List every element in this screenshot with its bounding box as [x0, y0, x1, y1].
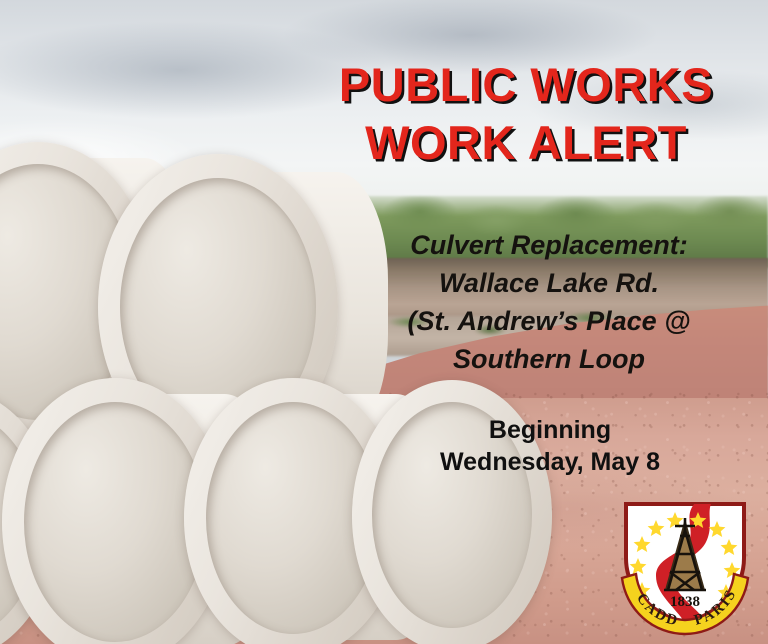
headline-line-2: WORK ALERT — [300, 114, 752, 172]
seal-year: 1838 — [670, 594, 700, 610]
headline-line-1: PUBLIC WORKS — [300, 56, 752, 114]
caddo-parish-seal: 1838 CADDO PARISH — [612, 496, 758, 636]
subhead-line-1: Culvert Replacement: — [356, 226, 742, 264]
pipe-bore — [24, 402, 206, 642]
date-line-1: Beginning — [380, 414, 720, 446]
public-works-alert-poster: PUBLIC WORKS WORK ALERT Culvert Replacem… — [0, 0, 768, 644]
subhead-line-2: Wallace Lake Rd. — [356, 264, 742, 302]
subhead-line-3: (St. Andrew’s Place @ — [356, 302, 742, 340]
date-line-2: Wednesday, May 8 — [380, 446, 720, 478]
project-description: Culvert Replacement: Wallace Lake Rd. (S… — [356, 226, 742, 378]
page-title: PUBLIC WORKS WORK ALERT — [300, 56, 752, 172]
start-date-block: Beginning Wednesday, May 8 — [380, 414, 720, 478]
subhead-line-4: Southern Loop — [356, 340, 742, 378]
